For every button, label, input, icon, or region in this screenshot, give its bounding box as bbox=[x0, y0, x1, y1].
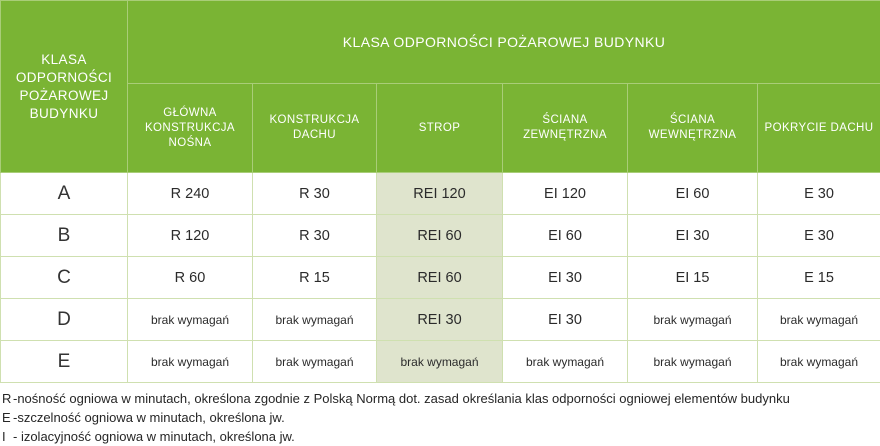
cell-value: REI 120 bbox=[377, 173, 503, 215]
fire-resistance-table: KLASA ODPORNOŚCI POŻAROWEJ BUDYNKU KLASA… bbox=[0, 0, 880, 383]
table-legend: R-nośność ogniowa w minutach, określona … bbox=[0, 383, 880, 446]
header-corner-class: KLASA ODPORNOŚCI POŻAROWEJ BUDYNKU bbox=[1, 1, 128, 173]
legend-symbol-r: R bbox=[2, 389, 13, 408]
cell-value: E 30 bbox=[758, 215, 880, 257]
legend-line-i: I- izolacyjność ogniowa w minutach, okre… bbox=[2, 427, 878, 446]
table-row: A R 240 R 30 REI 120 EI 120 EI 60 E 30 bbox=[1, 173, 880, 215]
legend-text-i: - izolacyjność ogniowa w minutach, okreś… bbox=[13, 429, 295, 444]
cell-class: D bbox=[1, 299, 128, 341]
column-header-konstrukcja-dachu: KONSTRUKCJA DACHU bbox=[253, 84, 377, 173]
cell-value: EI 30 bbox=[503, 257, 628, 299]
column-header-sciana-zewnetrzna: ŚCIANA ZEWNĘTRZNA bbox=[503, 84, 628, 173]
cell-value: brak wymagań bbox=[128, 299, 253, 341]
legend-symbol-e: E bbox=[2, 408, 13, 427]
cell-value: EI 15 bbox=[628, 257, 758, 299]
cell-value: brak wymagań bbox=[758, 299, 880, 341]
cell-value: brak wymagań bbox=[503, 341, 628, 383]
cell-value: R 60 bbox=[128, 257, 253, 299]
cell-value: REI 60 bbox=[377, 215, 503, 257]
header-group-title: KLASA ODPORNOŚCI POŻAROWEJ BUDYNKU bbox=[128, 1, 880, 84]
table-row: E brak wymagań brak wymagań brak wymagań… bbox=[1, 341, 880, 383]
cell-value: E 15 bbox=[758, 257, 880, 299]
table-row: D brak wymagań brak wymagań REI 30 EI 30… bbox=[1, 299, 880, 341]
table-header: KLASA ODPORNOŚCI POŻAROWEJ BUDYNKU KLASA… bbox=[1, 1, 880, 173]
cell-value: brak wymagań bbox=[253, 299, 377, 341]
cell-value: EI 60 bbox=[503, 215, 628, 257]
cell-value: R 30 bbox=[253, 173, 377, 215]
cell-value: REI 30 bbox=[377, 299, 503, 341]
header-row-top: KLASA ODPORNOŚCI POŻAROWEJ BUDYNKU KLASA… bbox=[1, 1, 880, 84]
cell-value: EI 30 bbox=[503, 299, 628, 341]
cell-value: R 120 bbox=[128, 215, 253, 257]
cell-value: brak wymagań bbox=[377, 341, 503, 383]
cell-value: brak wymagań bbox=[628, 299, 758, 341]
legend-text-e: -szczelność ogniowa w minutach, określon… bbox=[13, 410, 285, 425]
cell-class: E bbox=[1, 341, 128, 383]
column-header-glowna-konstrukcja-nosna: GŁÓWNA KONSTRUKCJA NOŚNA bbox=[128, 84, 253, 173]
cell-value: R 15 bbox=[253, 257, 377, 299]
table-row: B R 120 R 30 REI 60 EI 60 EI 30 E 30 bbox=[1, 215, 880, 257]
legend-line-e: E-szczelność ogniowa w minutach, określo… bbox=[2, 408, 878, 427]
column-header-strop: STROP bbox=[377, 84, 503, 173]
fire-resistance-sheet: KLASA ODPORNOŚCI POŻAROWEJ BUDYNKU KLASA… bbox=[0, 0, 880, 443]
header-row-columns: GŁÓWNA KONSTRUKCJA NOŚNA KONSTRUKCJA DAC… bbox=[1, 84, 880, 173]
cell-value: brak wymagań bbox=[128, 341, 253, 383]
cell-value: EI 60 bbox=[628, 173, 758, 215]
cell-value: EI 30 bbox=[628, 215, 758, 257]
cell-class: C bbox=[1, 257, 128, 299]
cell-value: brak wymagań bbox=[628, 341, 758, 383]
cell-value: E 30 bbox=[758, 173, 880, 215]
column-header-pokrycie-dachu: POKRYCIE DACHU bbox=[758, 84, 880, 173]
cell-value: REI 60 bbox=[377, 257, 503, 299]
legend-text-r: -nośność ogniowa w minutach, określona z… bbox=[13, 391, 790, 406]
cell-value: EI 120 bbox=[503, 173, 628, 215]
cell-value: R 240 bbox=[128, 173, 253, 215]
cell-class: A bbox=[1, 173, 128, 215]
legend-symbol-i: I bbox=[2, 427, 13, 446]
legend-line-r: R-nośność ogniowa w minutach, określona … bbox=[2, 389, 878, 408]
column-header-sciana-wewnetrzna: ŚCIANA WEWNĘTRZNA bbox=[628, 84, 758, 173]
table-row: C R 60 R 15 REI 60 EI 30 EI 15 E 15 bbox=[1, 257, 880, 299]
cell-value: brak wymagań bbox=[253, 341, 377, 383]
cell-value: brak wymagań bbox=[758, 341, 880, 383]
cell-value: R 30 bbox=[253, 215, 377, 257]
table-body: A R 240 R 30 REI 120 EI 120 EI 60 E 30 B… bbox=[1, 173, 880, 383]
cell-class: B bbox=[1, 215, 128, 257]
